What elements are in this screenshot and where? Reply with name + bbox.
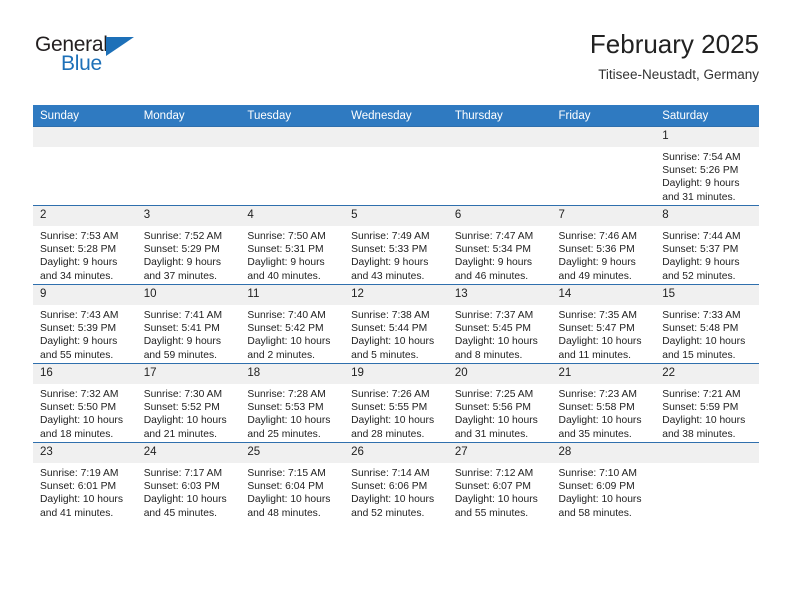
sunset-text: Sunset: 6:04 PM	[247, 480, 338, 493]
calendar-day-cell[interactable]: 7Sunrise: 7:46 AMSunset: 5:36 PMDaylight…	[552, 206, 656, 285]
sunset-text: Sunset: 5:53 PM	[247, 401, 338, 414]
calendar-grid: SundayMondayTuesdayWednesdayThursdayFrid…	[33, 105, 759, 521]
day-number: 16	[33, 364, 137, 384]
calendar-page: General Blue February 2025 Titisee-Neust…	[0, 0, 792, 612]
logo-text-blue: Blue	[35, 54, 155, 74]
sunrise-text: Sunrise: 7:52 AM	[144, 230, 235, 243]
daylight-text: Daylight: 10 hours and 18 minutes.	[40, 414, 131, 440]
day-number: 22	[655, 364, 759, 384]
calendar-day-cell[interactable]: 4Sunrise: 7:50 AMSunset: 5:31 PMDaylight…	[240, 206, 344, 285]
calendar-day-cell[interactable]: 8Sunrise: 7:44 AMSunset: 5:37 PMDaylight…	[655, 206, 759, 285]
calendar-day-cell[interactable]: 22Sunrise: 7:21 AMSunset: 5:59 PMDayligh…	[655, 364, 759, 443]
sunrise-text: Sunrise: 7:26 AM	[351, 388, 442, 401]
sunrise-text: Sunrise: 7:21 AM	[662, 388, 753, 401]
daylight-text: Daylight: 10 hours and 25 minutes.	[247, 414, 338, 440]
sunset-text: Sunset: 5:56 PM	[455, 401, 546, 414]
sunset-text: Sunset: 5:59 PM	[662, 401, 753, 414]
day-details: Sunrise: 7:41 AMSunset: 5:41 PMDaylight:…	[137, 305, 241, 362]
calendar-day-cell-empty	[655, 443, 759, 522]
daylight-text: Daylight: 10 hours and 35 minutes.	[559, 414, 650, 440]
weekday-header-friday: Friday	[552, 105, 656, 127]
day-number: 10	[137, 285, 241, 305]
daylight-text: Daylight: 9 hours and 40 minutes.	[247, 256, 338, 282]
daylight-text: Daylight: 10 hours and 8 minutes.	[455, 335, 546, 361]
day-details: Sunrise: 7:33 AMSunset: 5:48 PMDaylight:…	[655, 305, 759, 362]
day-number: 14	[552, 285, 656, 305]
day-details: Sunrise: 7:25 AMSunset: 5:56 PMDaylight:…	[448, 384, 552, 441]
day-details: Sunrise: 7:12 AMSunset: 6:07 PMDaylight:…	[448, 463, 552, 520]
day-details: Sunrise: 7:37 AMSunset: 5:45 PMDaylight:…	[448, 305, 552, 362]
daylight-text: Daylight: 10 hours and 21 minutes.	[144, 414, 235, 440]
day-number: 18	[240, 364, 344, 384]
sunrise-text: Sunrise: 7:47 AM	[455, 230, 546, 243]
sunset-text: Sunset: 5:34 PM	[455, 243, 546, 256]
daylight-text: Daylight: 10 hours and 11 minutes.	[559, 335, 650, 361]
calendar-day-cell[interactable]: 23Sunrise: 7:19 AMSunset: 6:01 PMDayligh…	[33, 443, 137, 522]
sunrise-text: Sunrise: 7:28 AM	[247, 388, 338, 401]
day-details: Sunrise: 7:28 AMSunset: 5:53 PMDaylight:…	[240, 384, 344, 441]
daylight-text: Daylight: 9 hours and 59 minutes.	[144, 335, 235, 361]
day-details: Sunrise: 7:21 AMSunset: 5:59 PMDaylight:…	[655, 384, 759, 441]
day-number: 20	[448, 364, 552, 384]
calendar-day-cell-empty	[344, 127, 448, 206]
daylight-text: Daylight: 9 hours and 55 minutes.	[40, 335, 131, 361]
day-number: 27	[448, 443, 552, 463]
calendar-day-cell[interactable]: 21Sunrise: 7:23 AMSunset: 5:58 PMDayligh…	[552, 364, 656, 443]
page-title: February 2025	[590, 28, 759, 60]
sunrise-text: Sunrise: 7:41 AM	[144, 309, 235, 322]
daylight-text: Daylight: 10 hours and 55 minutes.	[455, 493, 546, 519]
daylight-text: Daylight: 9 hours and 37 minutes.	[144, 256, 235, 282]
day-number: 4	[240, 206, 344, 226]
daylight-text: Daylight: 9 hours and 52 minutes.	[662, 256, 753, 282]
sunrise-text: Sunrise: 7:54 AM	[662, 151, 753, 164]
daylight-text: Daylight: 10 hours and 38 minutes.	[662, 414, 753, 440]
day-number: 7	[552, 206, 656, 226]
sunset-text: Sunset: 5:31 PM	[247, 243, 338, 256]
weekday-header-tuesday: Tuesday	[240, 105, 344, 127]
calendar-day-cell-empty	[137, 127, 241, 206]
weekday-header: SundayMondayTuesdayWednesdayThursdayFrid…	[33, 105, 759, 127]
day-details: Sunrise: 7:30 AMSunset: 5:52 PMDaylight:…	[137, 384, 241, 441]
sunrise-text: Sunrise: 7:37 AM	[455, 309, 546, 322]
daylight-text: Daylight: 10 hours and 15 minutes.	[662, 335, 753, 361]
calendar-week-row: 23Sunrise: 7:19 AMSunset: 6:01 PMDayligh…	[33, 443, 759, 522]
daylight-text: Daylight: 9 hours and 46 minutes.	[455, 256, 546, 282]
sunrise-text: Sunrise: 7:32 AM	[40, 388, 131, 401]
day-number: 24	[137, 443, 241, 463]
sunset-text: Sunset: 6:07 PM	[455, 480, 546, 493]
day-number: 11	[240, 285, 344, 305]
day-details: Sunrise: 7:53 AMSunset: 5:28 PMDaylight:…	[33, 226, 137, 283]
sunrise-text: Sunrise: 7:10 AM	[559, 467, 650, 480]
sunset-text: Sunset: 5:33 PM	[351, 243, 442, 256]
sunset-text: Sunset: 5:36 PM	[559, 243, 650, 256]
sunrise-text: Sunrise: 7:30 AM	[144, 388, 235, 401]
calendar-day-cell[interactable]: 20Sunrise: 7:25 AMSunset: 5:56 PMDayligh…	[448, 364, 552, 443]
sunset-text: Sunset: 5:48 PM	[662, 322, 753, 335]
day-details: Sunrise: 7:10 AMSunset: 6:09 PMDaylight:…	[552, 463, 656, 520]
calendar-week-row: 16Sunrise: 7:32 AMSunset: 5:50 PMDayligh…	[33, 364, 759, 443]
calendar-day-cell[interactable]: 11Sunrise: 7:40 AMSunset: 5:42 PMDayligh…	[240, 285, 344, 364]
day-number	[448, 127, 552, 147]
calendar-day-cell[interactable]: 28Sunrise: 7:10 AMSunset: 6:09 PMDayligh…	[552, 443, 656, 522]
day-details: Sunrise: 7:17 AMSunset: 6:03 PMDaylight:…	[137, 463, 241, 520]
calendar-day-cell[interactable]: 5Sunrise: 7:49 AMSunset: 5:33 PMDaylight…	[344, 206, 448, 285]
calendar-day-cell-empty	[33, 127, 137, 206]
day-details: Sunrise: 7:32 AMSunset: 5:50 PMDaylight:…	[33, 384, 137, 441]
sunset-text: Sunset: 5:28 PM	[40, 243, 131, 256]
sunset-text: Sunset: 5:29 PM	[144, 243, 235, 256]
day-number: 12	[344, 285, 448, 305]
day-number: 1	[655, 127, 759, 147]
sunset-text: Sunset: 5:45 PM	[455, 322, 546, 335]
day-number: 25	[240, 443, 344, 463]
calendar-day-cell[interactable]: 25Sunrise: 7:15 AMSunset: 6:04 PMDayligh…	[240, 443, 344, 522]
calendar-day-cell[interactable]: 16Sunrise: 7:32 AMSunset: 5:50 PMDayligh…	[33, 364, 137, 443]
calendar-week-row: 1Sunrise: 7:54 AMSunset: 5:26 PMDaylight…	[33, 127, 759, 206]
calendar-day-cell[interactable]: 6Sunrise: 7:47 AMSunset: 5:34 PMDaylight…	[448, 206, 552, 285]
daylight-text: Daylight: 10 hours and 52 minutes.	[351, 493, 442, 519]
calendar-day-cell[interactable]: 15Sunrise: 7:33 AMSunset: 5:48 PMDayligh…	[655, 285, 759, 364]
calendar-day-cell[interactable]: 26Sunrise: 7:14 AMSunset: 6:06 PMDayligh…	[344, 443, 448, 522]
sunset-text: Sunset: 5:44 PM	[351, 322, 442, 335]
sunset-text: Sunset: 5:41 PM	[144, 322, 235, 335]
sunrise-text: Sunrise: 7:46 AM	[559, 230, 650, 243]
calendar-week-row: 2Sunrise: 7:53 AMSunset: 5:28 PMDaylight…	[33, 206, 759, 285]
daylight-text: Daylight: 9 hours and 43 minutes.	[351, 256, 442, 282]
sunset-text: Sunset: 6:01 PM	[40, 480, 131, 493]
sunset-text: Sunset: 5:39 PM	[40, 322, 131, 335]
day-number: 2	[33, 206, 137, 226]
day-number: 5	[344, 206, 448, 226]
day-details: Sunrise: 7:47 AMSunset: 5:34 PMDaylight:…	[448, 226, 552, 283]
title-block: February 2025 Titisee-Neustadt, Germany	[590, 28, 759, 85]
day-details: Sunrise: 7:35 AMSunset: 5:47 PMDaylight:…	[552, 305, 656, 362]
day-details: Sunrise: 7:52 AMSunset: 5:29 PMDaylight:…	[137, 226, 241, 283]
day-details: Sunrise: 7:19 AMSunset: 6:01 PMDaylight:…	[33, 463, 137, 520]
daylight-text: Daylight: 10 hours and 41 minutes.	[40, 493, 131, 519]
day-number: 6	[448, 206, 552, 226]
daylight-text: Daylight: 10 hours and 48 minutes.	[247, 493, 338, 519]
sunrise-text: Sunrise: 7:40 AM	[247, 309, 338, 322]
sunset-text: Sunset: 5:55 PM	[351, 401, 442, 414]
daylight-text: Daylight: 10 hours and 2 minutes.	[247, 335, 338, 361]
day-details: Sunrise: 7:50 AMSunset: 5:31 PMDaylight:…	[240, 226, 344, 283]
day-number	[655, 443, 759, 463]
sunrise-text: Sunrise: 7:43 AM	[40, 309, 131, 322]
sunset-text: Sunset: 5:42 PM	[247, 322, 338, 335]
page-subtitle: Titisee-Neustadt, Germany	[590, 65, 759, 85]
day-number: 15	[655, 285, 759, 305]
day-number	[33, 127, 137, 147]
daylight-text: Daylight: 10 hours and 28 minutes.	[351, 414, 442, 440]
calendar-day-cell[interactable]: 1Sunrise: 7:54 AMSunset: 5:26 PMDaylight…	[655, 127, 759, 206]
calendar-day-cell[interactable]: 18Sunrise: 7:28 AMSunset: 5:53 PMDayligh…	[240, 364, 344, 443]
daylight-text: Daylight: 9 hours and 31 minutes.	[662, 177, 753, 203]
day-details: Sunrise: 7:54 AMSunset: 5:26 PMDaylight:…	[655, 147, 759, 204]
sunset-text: Sunset: 6:03 PM	[144, 480, 235, 493]
weekday-header-saturday: Saturday	[655, 105, 759, 127]
day-details: Sunrise: 7:23 AMSunset: 5:58 PMDaylight:…	[552, 384, 656, 441]
day-details: Sunrise: 7:38 AMSunset: 5:44 PMDaylight:…	[344, 305, 448, 362]
daylight-text: Daylight: 10 hours and 5 minutes.	[351, 335, 442, 361]
calendar-day-cell-empty	[448, 127, 552, 206]
day-details: Sunrise: 7:26 AMSunset: 5:55 PMDaylight:…	[344, 384, 448, 441]
sunrise-text: Sunrise: 7:53 AM	[40, 230, 131, 243]
calendar-day-cell[interactable]: 24Sunrise: 7:17 AMSunset: 6:03 PMDayligh…	[137, 443, 241, 522]
calendar-header-row: SundayMondayTuesdayWednesdayThursdayFrid…	[33, 105, 759, 127]
sunrise-text: Sunrise: 7:50 AM	[247, 230, 338, 243]
day-number: 23	[33, 443, 137, 463]
sunrise-text: Sunrise: 7:19 AM	[40, 467, 131, 480]
calendar-body: 1Sunrise: 7:54 AMSunset: 5:26 PMDaylight…	[33, 127, 759, 522]
day-details: Sunrise: 7:43 AMSunset: 5:39 PMDaylight:…	[33, 305, 137, 362]
day-details: Sunrise: 7:49 AMSunset: 5:33 PMDaylight:…	[344, 226, 448, 283]
day-number: 17	[137, 364, 241, 384]
calendar-day-cell-empty	[552, 127, 656, 206]
day-number: 9	[33, 285, 137, 305]
sunrise-text: Sunrise: 7:44 AM	[662, 230, 753, 243]
day-number: 3	[137, 206, 241, 226]
daylight-text: Daylight: 10 hours and 45 minutes.	[144, 493, 235, 519]
day-number	[137, 127, 241, 147]
sunset-text: Sunset: 6:06 PM	[351, 480, 442, 493]
sunset-text: Sunset: 5:50 PM	[40, 401, 131, 414]
day-details: Sunrise: 7:14 AMSunset: 6:06 PMDaylight:…	[344, 463, 448, 520]
day-number: 26	[344, 443, 448, 463]
sunset-text: Sunset: 5:47 PM	[559, 322, 650, 335]
day-number	[552, 127, 656, 147]
day-details: Sunrise: 7:15 AMSunset: 6:04 PMDaylight:…	[240, 463, 344, 520]
sunset-text: Sunset: 5:52 PM	[144, 401, 235, 414]
weekday-header-wednesday: Wednesday	[344, 105, 448, 127]
calendar-day-cell[interactable]: 19Sunrise: 7:26 AMSunset: 5:55 PMDayligh…	[344, 364, 448, 443]
sunrise-text: Sunrise: 7:25 AM	[455, 388, 546, 401]
general-blue-logo: General Blue	[35, 34, 155, 86]
daylight-text: Daylight: 9 hours and 34 minutes.	[40, 256, 131, 282]
page-header: General Blue February 2025 Titisee-Neust…	[33, 28, 759, 98]
daylight-text: Daylight: 10 hours and 58 minutes.	[559, 493, 650, 519]
calendar-day-cell-empty	[240, 127, 344, 206]
day-number	[344, 127, 448, 147]
day-number: 13	[448, 285, 552, 305]
day-number: 21	[552, 364, 656, 384]
day-number: 19	[344, 364, 448, 384]
day-details: Sunrise: 7:44 AMSunset: 5:37 PMDaylight:…	[655, 226, 759, 283]
day-number	[240, 127, 344, 147]
daylight-text: Daylight: 9 hours and 49 minutes.	[559, 256, 650, 282]
calendar-week-row: 9Sunrise: 7:43 AMSunset: 5:39 PMDaylight…	[33, 285, 759, 364]
sunrise-text: Sunrise: 7:17 AM	[144, 467, 235, 480]
weekday-header-thursday: Thursday	[448, 105, 552, 127]
sunset-text: Sunset: 5:58 PM	[559, 401, 650, 414]
calendar-day-cell[interactable]: 2Sunrise: 7:53 AMSunset: 5:28 PMDaylight…	[33, 206, 137, 285]
day-number: 8	[655, 206, 759, 226]
day-details: Sunrise: 7:40 AMSunset: 5:42 PMDaylight:…	[240, 305, 344, 362]
calendar-day-cell[interactable]: 14Sunrise: 7:35 AMSunset: 5:47 PMDayligh…	[552, 285, 656, 364]
sunset-text: Sunset: 5:37 PM	[662, 243, 753, 256]
sunrise-text: Sunrise: 7:35 AM	[559, 309, 650, 322]
day-number: 28	[552, 443, 656, 463]
day-details: Sunrise: 7:46 AMSunset: 5:36 PMDaylight:…	[552, 226, 656, 283]
sunrise-text: Sunrise: 7:12 AM	[455, 467, 546, 480]
calendar-day-cell[interactable]: 9Sunrise: 7:43 AMSunset: 5:39 PMDaylight…	[33, 285, 137, 364]
weekday-header-monday: Monday	[137, 105, 241, 127]
sunset-text: Sunset: 6:09 PM	[559, 480, 650, 493]
calendar-day-cell[interactable]: 12Sunrise: 7:38 AMSunset: 5:44 PMDayligh…	[344, 285, 448, 364]
sunrise-text: Sunrise: 7:33 AM	[662, 309, 753, 322]
sunrise-text: Sunrise: 7:23 AM	[559, 388, 650, 401]
sunrise-text: Sunrise: 7:49 AM	[351, 230, 442, 243]
weekday-header-sunday: Sunday	[33, 105, 137, 127]
sunrise-text: Sunrise: 7:14 AM	[351, 467, 442, 480]
calendar-day-cell[interactable]: 13Sunrise: 7:37 AMSunset: 5:45 PMDayligh…	[448, 285, 552, 364]
sunset-text: Sunset: 5:26 PM	[662, 164, 753, 177]
calendar-day-cell[interactable]: 27Sunrise: 7:12 AMSunset: 6:07 PMDayligh…	[448, 443, 552, 522]
triangle-icon	[106, 37, 134, 56]
calendar-day-cell[interactable]: 17Sunrise: 7:30 AMSunset: 5:52 PMDayligh…	[137, 364, 241, 443]
calendar-day-cell[interactable]: 10Sunrise: 7:41 AMSunset: 5:41 PMDayligh…	[137, 285, 241, 364]
sunrise-text: Sunrise: 7:15 AM	[247, 467, 338, 480]
daylight-text: Daylight: 10 hours and 31 minutes.	[455, 414, 546, 440]
calendar-day-cell[interactable]: 3Sunrise: 7:52 AMSunset: 5:29 PMDaylight…	[137, 206, 241, 285]
sunrise-text: Sunrise: 7:38 AM	[351, 309, 442, 322]
